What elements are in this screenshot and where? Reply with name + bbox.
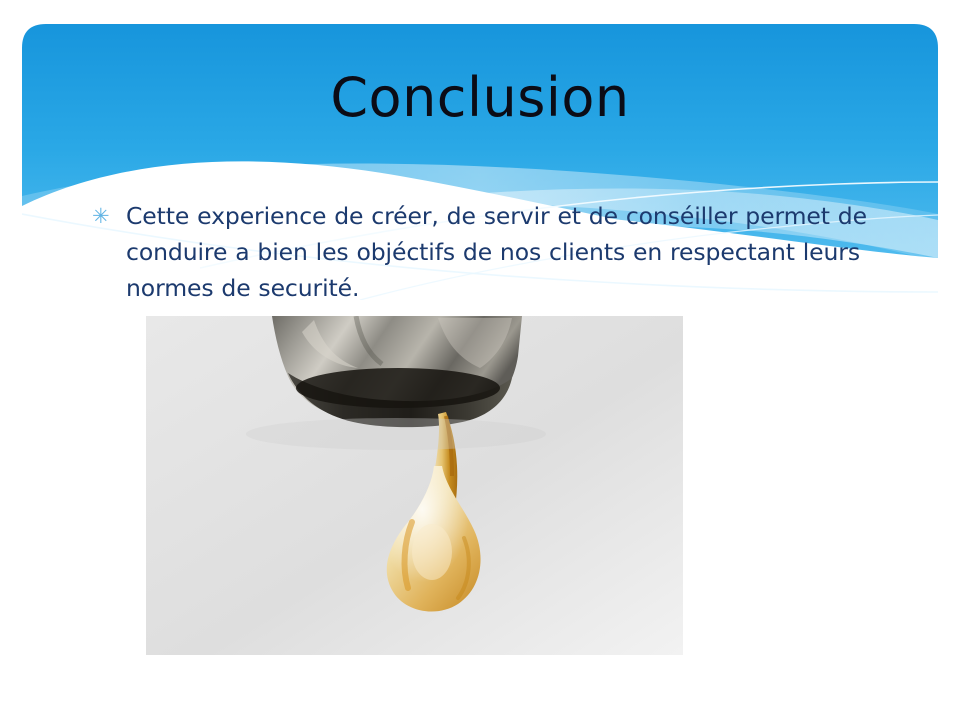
dripping-faucet-photo <box>146 316 683 655</box>
photo-soft-shadow <box>246 418 546 450</box>
bullet-text: Cette experience de créer, de servir et … <box>126 198 882 306</box>
slide-body: ✳ Cette experience de créer, de servir e… <box>92 198 882 306</box>
droplet-inner-glow <box>412 524 452 580</box>
list-item: ✳ Cette experience de créer, de servir e… <box>92 198 882 306</box>
faucet-bore <box>296 368 500 408</box>
presentation-slide: Conclusion ✳ Cette experience de créer, … <box>0 0 960 720</box>
slide-title: Conclusion <box>40 68 920 127</box>
asterisk-bullet-icon: ✳ <box>92 198 126 234</box>
